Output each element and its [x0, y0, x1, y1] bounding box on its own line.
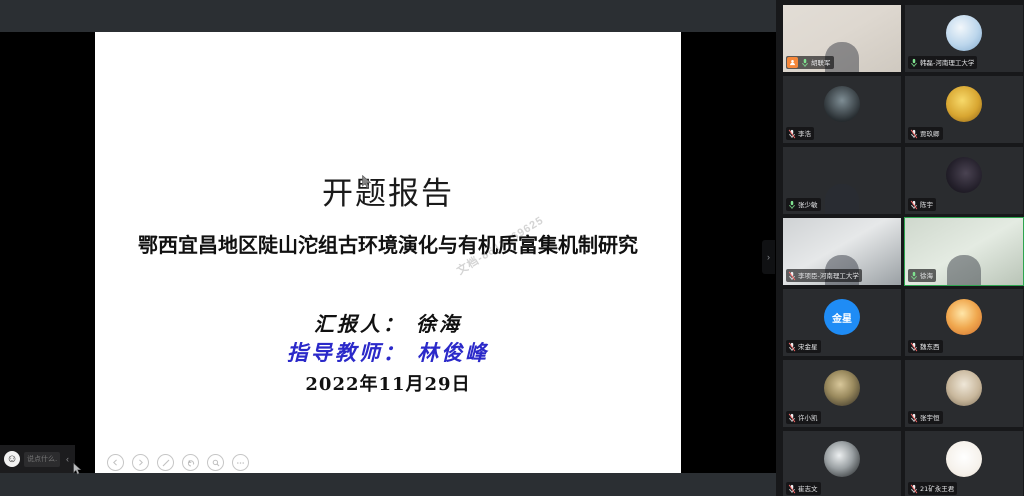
participant-name: 崔志文 — [798, 484, 818, 494]
participant-name-badge: 徐海 — [908, 269, 936, 282]
mic-muted-icon — [909, 412, 918, 423]
participant-tile-grid: 胡联军 韩磊-河南理工大学 李浩 贾玖卿 张少敏 陈宇 李项臣-河南理工大学 徐… — [782, 4, 1024, 496]
participant-name: 胡联军 — [811, 58, 831, 68]
slide-presenter: 汇报人： 徐海 — [95, 308, 681, 337]
avatar — [946, 299, 982, 335]
participant-name: 李项臣-河南理工大学 — [798, 271, 859, 281]
participant-tile[interactable]: 崔志文 — [782, 430, 902, 496]
participant-tile[interactable]: 李项臣-河南理工大学 — [782, 217, 902, 286]
zoom-icon[interactable] — [207, 454, 224, 471]
participant-name: 张宇恒 — [920, 413, 940, 423]
participant-name-badge: 宋金星 — [786, 340, 821, 353]
share-bottom-bar — [0, 473, 776, 496]
mic-muted-icon — [787, 270, 796, 281]
slide-title: 开题报告 — [95, 168, 681, 213]
meeting-window: 文档-8613269625 开题报告 鄂西宜昌地区陡山沱组古环境演化与有机质富集… — [0, 0, 1024, 496]
participant-name-badge: 崔志文 — [786, 482, 821, 495]
participant-name-badge: 胡联军 — [786, 56, 834, 69]
participant-name: 陈宇 — [920, 200, 933, 210]
mic-muted-icon — [787, 128, 796, 139]
mic-muted-icon — [787, 483, 796, 494]
participant-tile[interactable]: 李浩 — [782, 75, 902, 144]
participant-name: 贾玖卿 — [920, 129, 940, 139]
participant-name-badge: 李浩 — [786, 127, 814, 140]
slide-subtitle: 鄂西宜昌地区陡山沱组古环境演化与有机质富集机制研究 — [95, 229, 681, 258]
participant-name: 张少敏 — [798, 200, 818, 210]
participant-name-badge: 张少敏 — [786, 198, 821, 211]
participant-name-badge: 21矿永王君 — [908, 482, 957, 495]
participant-name: 宋金星 — [798, 342, 818, 352]
panel-collapse-icon[interactable]: › — [762, 240, 775, 274]
next-page-icon[interactable] — [132, 454, 149, 471]
participant-name-badge: 张宇恒 — [908, 411, 943, 424]
slide-toolbar[interactable] — [107, 454, 249, 471]
participant-name: 21矿永王君 — [920, 484, 954, 494]
avatar — [946, 86, 982, 122]
avatar — [824, 441, 860, 477]
mic-on-icon — [787, 199, 796, 210]
mic-muted-icon — [787, 341, 796, 352]
participant-name-badge: 魏东西 — [908, 340, 943, 353]
mic-on-icon — [800, 57, 809, 68]
participant-name: 魏东西 — [920, 342, 940, 352]
participant-name-badge: 陈宇 — [908, 198, 936, 211]
avatar — [946, 157, 982, 193]
undo-icon[interactable] — [182, 454, 199, 471]
mouse-cursor-secondary-icon — [73, 462, 82, 480]
shared-slide: 文档-8613269625 开题报告 鄂西宜昌地区陡山沱组古环境演化与有机质富集… — [95, 32, 681, 473]
participant-name-badge: 贾玖卿 — [908, 127, 943, 140]
mic-muted-icon — [909, 199, 918, 210]
participant-panel: › 胡联军 韩磊-河南理工大学 李浩 贾玖卿 张少敏 陈宇 李项臣-河南理工大学 — [776, 0, 1024, 496]
participant-tile[interactable]: 陈宇 — [904, 146, 1024, 215]
participant-tile[interactable]: 许小凯 — [782, 359, 902, 428]
participant-name: 许小凯 — [798, 413, 818, 423]
avatar — [824, 86, 860, 122]
pen-icon[interactable] — [157, 454, 174, 471]
host-icon — [787, 57, 798, 68]
chat-collapse-icon[interactable]: ‹ — [64, 454, 71, 464]
participant-name-badge: 许小凯 — [786, 411, 821, 424]
participant-tile[interactable]: 徐海 — [904, 217, 1024, 286]
participant-name-badge: 韩磊-河南理工大学 — [908, 56, 977, 69]
participant-name: 韩磊-河南理工大学 — [920, 58, 974, 68]
participant-name-badge: 李项臣-河南理工大学 — [786, 269, 862, 282]
avatar — [824, 370, 860, 406]
participant-tile[interactable]: 张宇恒 — [904, 359, 1024, 428]
avatar — [946, 441, 982, 477]
emoji-icon[interactable]: ☺ — [4, 451, 20, 467]
participant-tile[interactable]: 金星 宋金星 — [782, 288, 902, 357]
participant-tile[interactable]: 魏东西 — [904, 288, 1024, 357]
prev-page-icon[interactable] — [107, 454, 124, 471]
participant-tile[interactable]: 韩磊-河南理工大学 — [904, 4, 1024, 73]
mic-muted-icon — [909, 128, 918, 139]
mic-muted-icon — [787, 412, 796, 423]
participant-tile[interactable]: 胡联军 — [782, 4, 902, 73]
avatar — [946, 15, 982, 51]
slide-advisor: 指导教师： 林俊峰 — [95, 337, 681, 367]
mic-on-icon — [909, 57, 918, 68]
avatar: 金星 — [824, 299, 860, 335]
participant-tile[interactable]: 张少敏 — [782, 146, 902, 215]
screen-share-area: 文档-8613269625 开题报告 鄂西宜昌地区陡山沱组古环境演化与有机质富集… — [0, 0, 776, 496]
participant-tile[interactable]: 21矿永王君 — [904, 430, 1024, 496]
slide-date: 2022年11月29日 — [95, 370, 681, 396]
mic-muted-icon — [909, 483, 918, 494]
chat-input-bar[interactable]: ☺ ‹ — [0, 445, 75, 473]
share-top-bar — [0, 0, 776, 32]
participant-tile[interactable]: 贾玖卿 — [904, 75, 1024, 144]
participant-name: 李浩 — [798, 129, 811, 139]
mic-on-icon — [909, 270, 918, 281]
chat-input[interactable] — [24, 452, 60, 467]
participant-name: 徐海 — [920, 271, 933, 281]
avatar — [946, 370, 982, 406]
more-icon[interactable] — [232, 454, 249, 471]
mic-muted-icon — [909, 341, 918, 352]
